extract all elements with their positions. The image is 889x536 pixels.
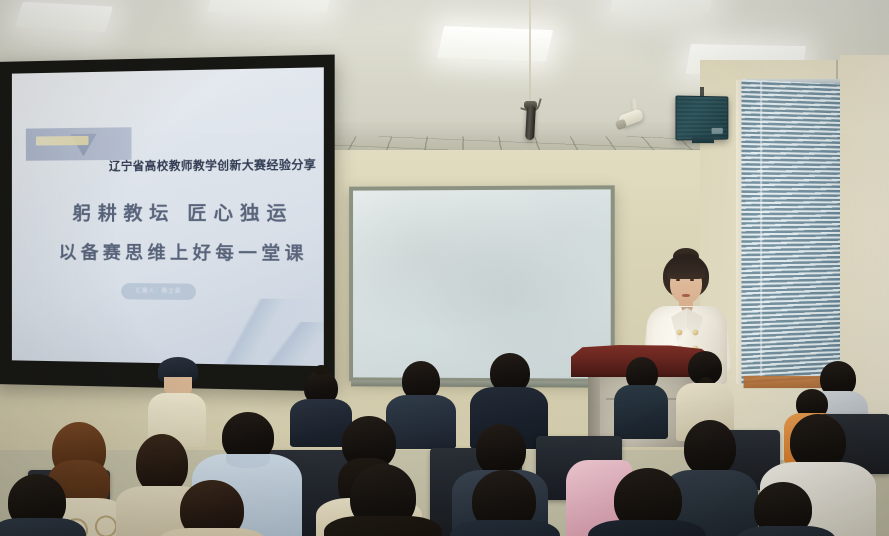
audience-member	[450, 470, 560, 536]
microphone-cable	[529, 0, 531, 100]
slide-headline-line-2: 以备赛思维上好每一堂课	[28, 239, 324, 266]
torso	[588, 520, 706, 536]
ceiling-light-5	[610, 0, 715, 12]
blinds-slats	[742, 80, 840, 385]
slide-logo-banner	[26, 127, 132, 160]
presenter-fringe	[667, 262, 705, 279]
audience-member	[736, 482, 836, 536]
presenter-mouth	[682, 294, 690, 297]
audience-member	[588, 468, 706, 536]
blinds-cord[interactable]	[760, 82, 762, 379]
projection-screen: 辽宁省高校教师教学创新大赛经验分享 躬耕教坛 匠心独运 以备赛思维上好每一堂课 …	[0, 55, 335, 392]
hanging-microphone	[525, 106, 536, 140]
ceiling-light-1	[15, 2, 114, 33]
whiteboard-surface	[353, 189, 611, 378]
torso	[324, 516, 442, 536]
jacket-button-1	[677, 330, 682, 335]
torso	[156, 528, 268, 536]
torso	[0, 518, 86, 536]
lecture-hall-scene: 辽宁省高校教师教学创新大赛经验分享 躬耕教坛 匠心独运 以备赛思维上好每一堂课 …	[0, 0, 889, 536]
projection-screen-surface: 辽宁省高校教师教学创新大赛经验分享 躬耕教坛 匠心独运 以备赛思维上好每一堂课 …	[12, 67, 324, 366]
ceiling-light-3	[207, 0, 333, 12]
speaker-underside	[692, 137, 714, 143]
slide-presenter-pill-label: 汇报人：杨立英	[121, 286, 196, 295]
slide-headline-line-1: 躬耕教坛 匠心独运	[28, 199, 324, 226]
ceiling-light-2	[437, 26, 554, 62]
audience-member	[324, 464, 442, 536]
torso	[450, 520, 560, 536]
slide-title: 辽宁省高校教师教学创新大赛经验分享	[109, 156, 324, 174]
hair-bun	[314, 365, 329, 375]
audience-front-row	[0, 440, 889, 536]
wall-speaker	[675, 95, 728, 140]
jacket-button-2	[693, 330, 698, 335]
speaker-badge	[712, 128, 723, 134]
window-blinds[interactable]	[742, 80, 840, 385]
slide-headline-group: 躬耕教坛 匠心独运 以备赛思维上好每一堂课	[28, 199, 324, 266]
audience-member	[156, 480, 268, 536]
torso	[736, 526, 836, 536]
audience-member	[0, 474, 86, 536]
